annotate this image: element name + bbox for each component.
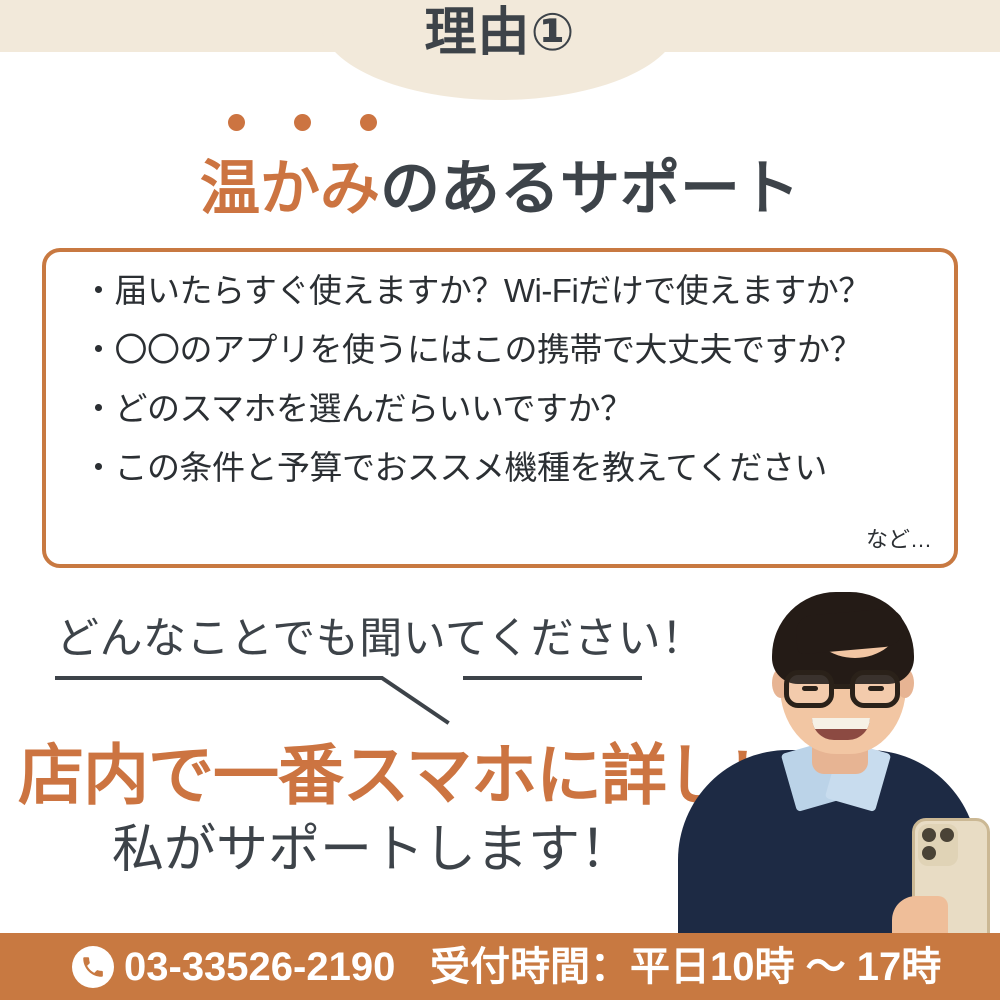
dot-icon: [360, 114, 377, 131]
business-hours: 受付時間：平日10時 〜 17時: [430, 944, 941, 990]
decorative-dots: [228, 114, 458, 136]
camera-lens-icon: [922, 846, 936, 860]
list-item: ・どのスマホを選んだらいいですか？: [82, 392, 938, 425]
subtitle: 温かみのあるサポート: [0, 140, 1000, 227]
list-item: ・〇〇のアプリを使うにはこの携帯で大丈夫ですか？: [82, 333, 938, 366]
headline-dark: 私がサポートします！: [112, 824, 632, 876]
list-item: ・この条件と予算でおススメ機種を教えてください: [82, 451, 938, 484]
list-note: など…: [866, 522, 932, 554]
speech-text: どんなことでも聞いてください！: [56, 604, 705, 666]
subtitle-rest: のあるサポート: [380, 155, 800, 222]
camera-lens-icon: [940, 828, 954, 842]
question-list: ・届いたらすぐ使えますか？Wi-Fiだけで使えますか？ ・〇〇のアプリを使うには…: [82, 274, 938, 510]
dot-icon: [294, 114, 311, 131]
camera-lens-icon: [922, 828, 936, 842]
page-title: 理由①: [0, 6, 1000, 61]
teeth: [812, 718, 870, 729]
question-list-box: ・届いたらすぐ使えますか？Wi-Fiだけで使えますか？ ・〇〇のアプリを使うには…: [42, 248, 958, 568]
poster-root: 理由① 温かみのあるサポート ・届いたらすぐ使えますか？Wi-Fiだけで使えます…: [0, 0, 1000, 1000]
staff-photo: [660, 560, 1000, 960]
phone-number[interactable]: 03-33526-2190: [124, 944, 395, 990]
dot-icon: [228, 114, 245, 131]
subtitle-highlight: 温かみ: [200, 155, 380, 222]
list-item: ・届いたらすぐ使えますか？Wi-Fiだけで使えますか？: [82, 274, 938, 307]
phone-icon: [72, 946, 114, 988]
phone-camera-module: [918, 824, 958, 866]
eye-right: [868, 686, 884, 691]
speech-underline-with-tail: [40, 668, 660, 730]
glasses-bridge: [832, 684, 852, 689]
eye-left: [802, 686, 818, 691]
